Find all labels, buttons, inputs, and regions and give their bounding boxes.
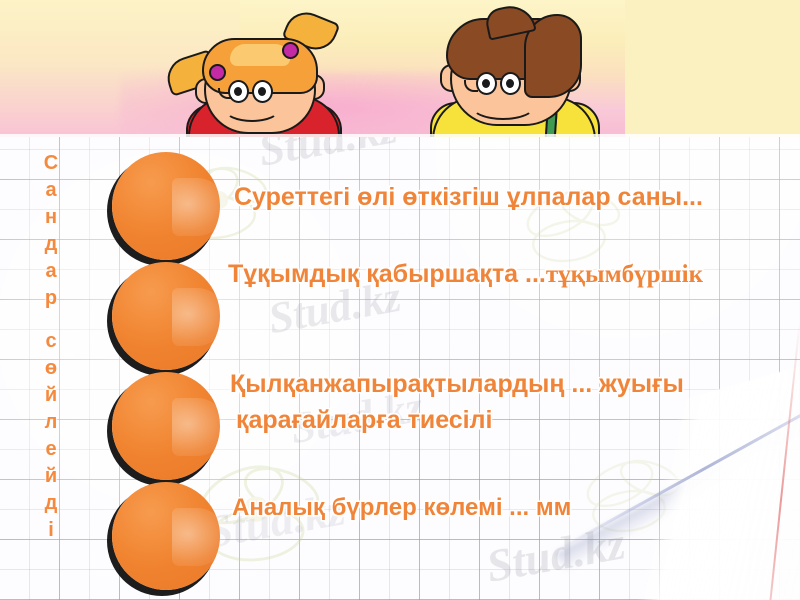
vertical-title-letter: с [45,328,56,355]
question-line: қарағайларға тиесілі [236,404,690,436]
vertical-title-letter: й [45,382,57,409]
vertical-title-letter: р [45,285,57,312]
question-line: Қылқанжапырақтылардың ... жуығы [230,368,684,400]
question-item-4: Аналық бүрлер көлемі ... мм [232,492,571,524]
question-line: Суреттегі өлі өткізгіш ұлпалар саны... [234,181,703,213]
bullet-circle-4[interactable] [112,482,220,590]
question-item-3: Қылқанжапырақтылардың ... жуығы қарағайл… [230,368,684,432]
vertical-title-letter: д [45,231,58,258]
banner-right-fill [625,0,800,137]
vertical-title-letter: й [45,463,57,490]
question-line: Тұқымдық қабыршақта ... [228,258,546,290]
vertical-title: С а н д а р с ө й л е й д і [34,150,68,544]
vertical-title-letter: н [45,204,57,231]
bullet-circle-3[interactable] [112,372,220,480]
vertical-title-letter: д [45,490,58,517]
slide-canvas: Stud.kz Stud.kz Stud.kz Stud.kz Stud.kz … [0,0,800,600]
vertical-title-letter: а [45,258,56,285]
vertical-title-letter: ө [45,355,57,382]
banner-divider [0,134,800,137]
vertical-title-letter: С [44,150,58,177]
bullet-circle-2[interactable] [112,262,220,370]
question-item-2: Тұқымдық қабыршақта ... тұқымбүршік [228,258,703,291]
vertical-title-letter: а [45,177,56,204]
bullet-circle-1[interactable] [112,152,220,260]
question-line: Аналық бүрлер көлемі ... мм [232,492,571,524]
vertical-title-letter: і [48,517,54,544]
header-illustration-banner [0,0,800,137]
question-item-1: Суреттегі өлі өткізгіш ұлпалар саны... [234,181,703,213]
cartoon-girl-illustration [182,8,342,137]
vertical-title-letter: л [45,409,58,436]
cartoon-boy-illustration [428,2,598,137]
question-line-emphasis: тұқымбүршік [546,259,703,291]
vertical-title-letter: е [45,436,56,463]
